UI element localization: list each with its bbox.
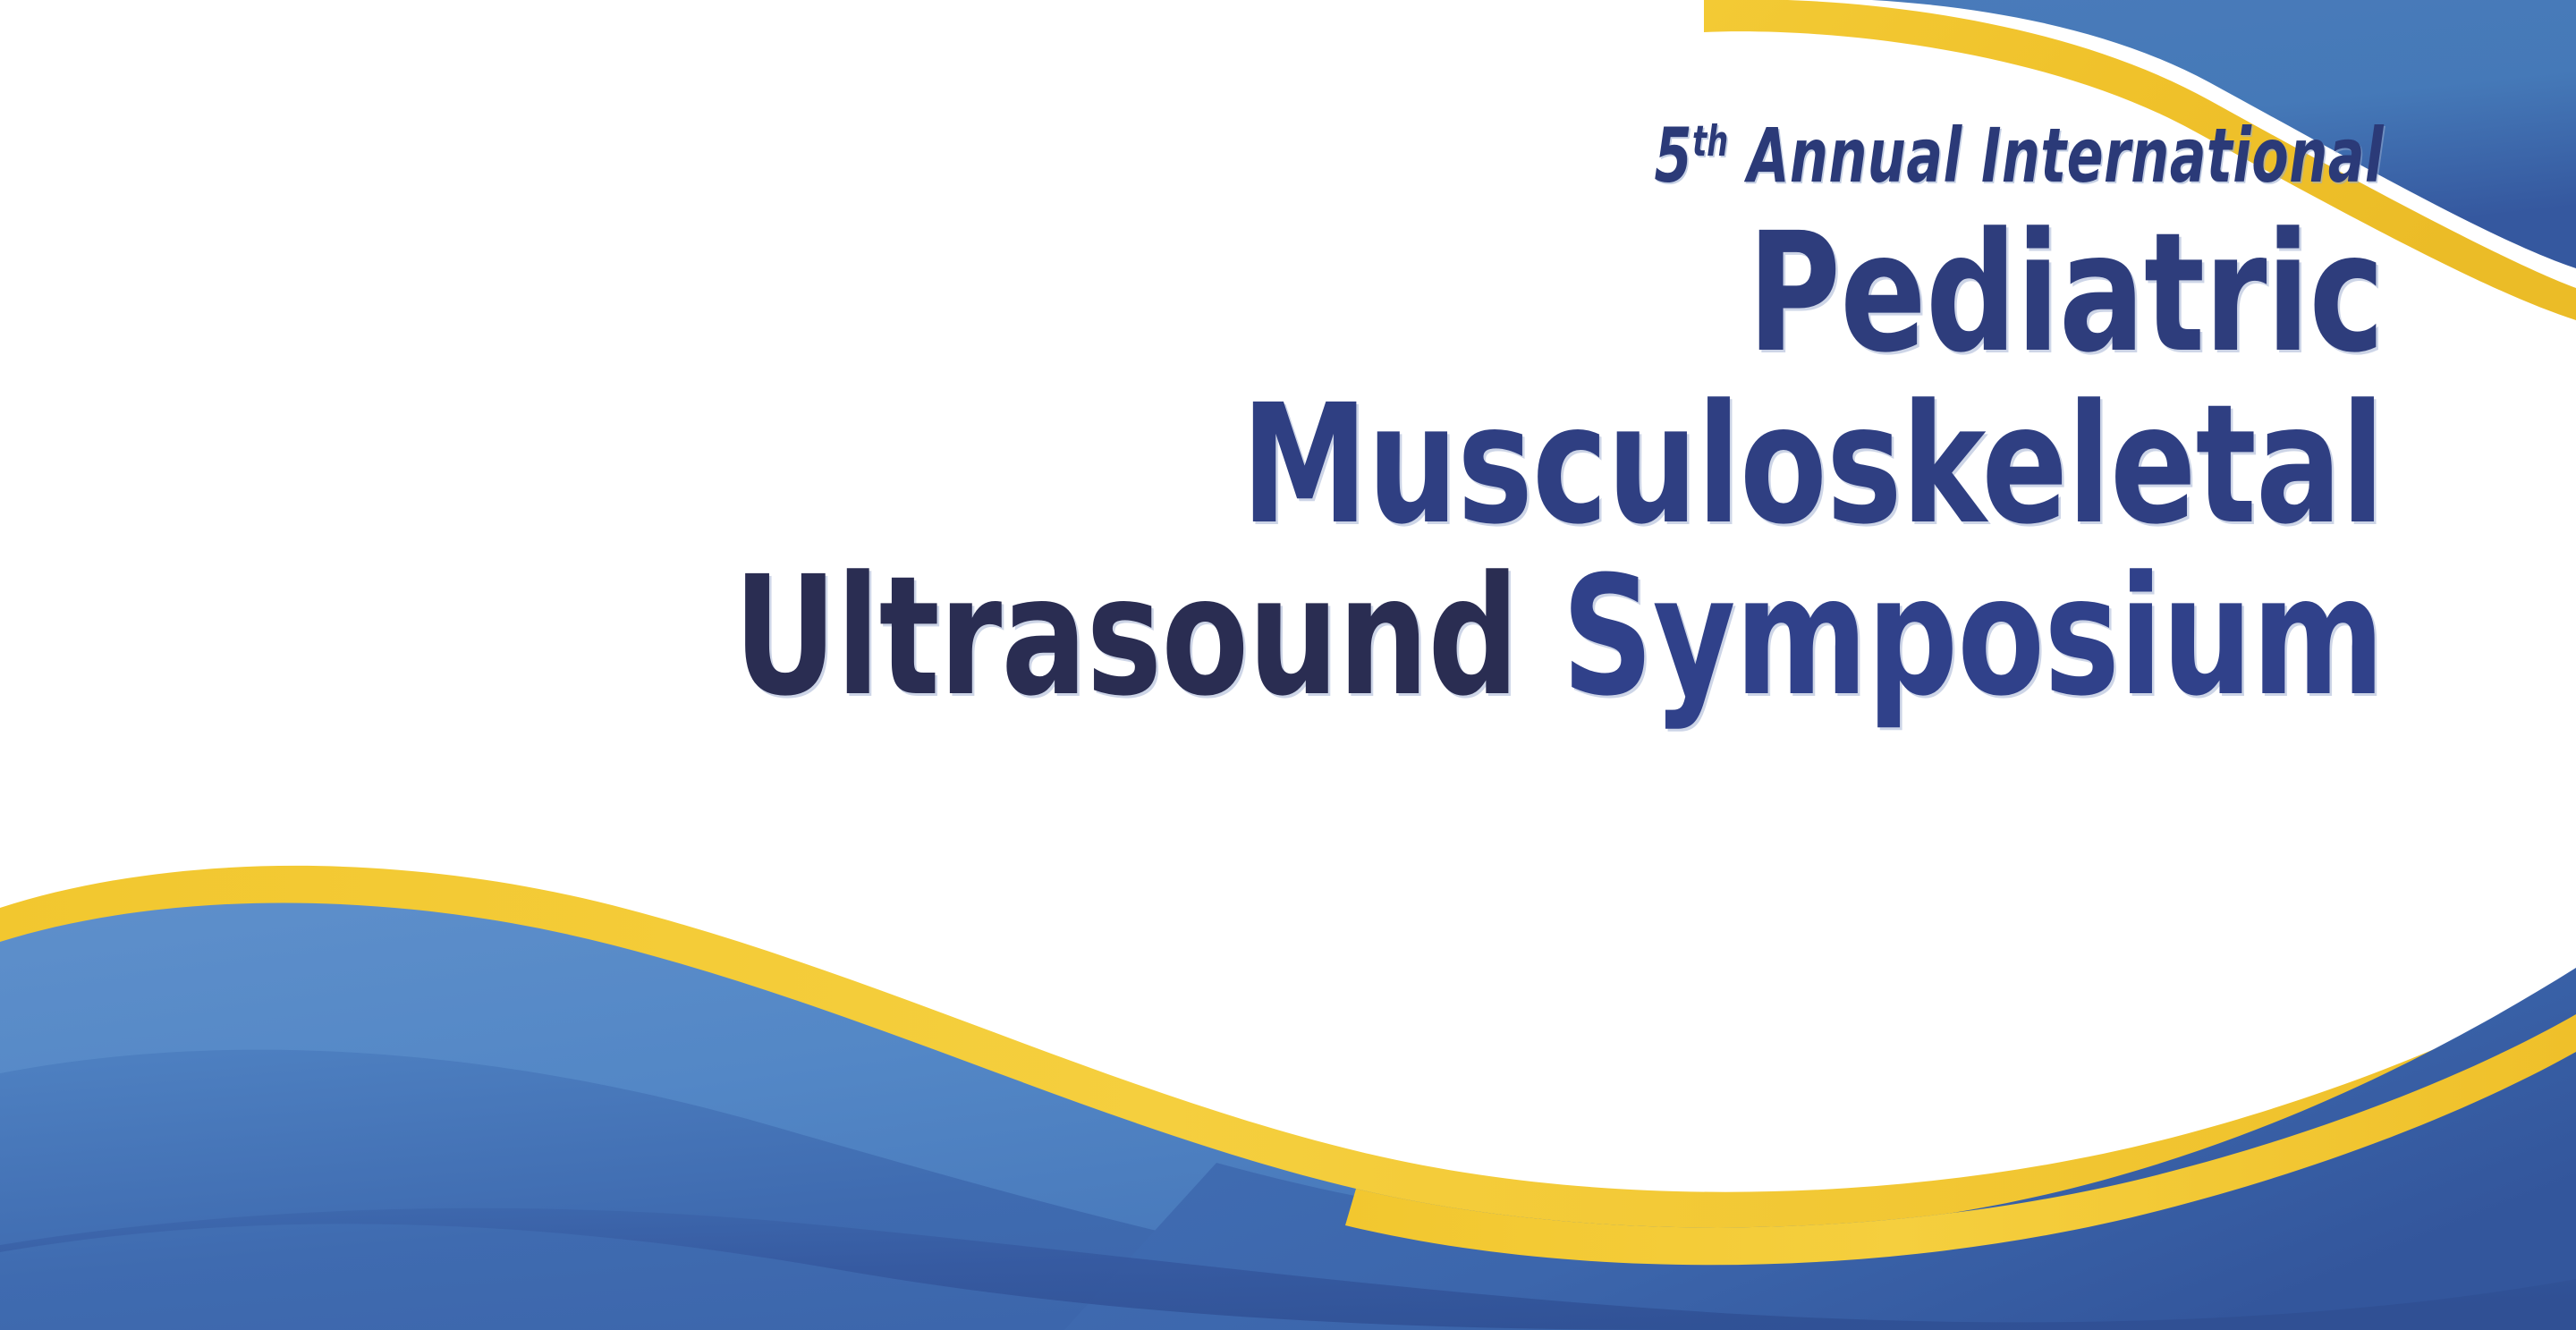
eyebrow-label: Annual International	[1728, 112, 2384, 199]
title-line-pediatric: Pediatric	[334, 211, 2384, 376]
title-block: 5th Annual International Pediatric Muscu…	[0, 0, 2384, 719]
title-line-musculoskeletal: Musculoskeletal	[334, 383, 2384, 547]
bottom-wave-deep	[0, 1208, 2576, 1330]
title-word-symposium: Symposium	[1562, 541, 2384, 733]
eyebrow-text: 5th Annual International	[477, 118, 2384, 193]
bottom-wave-mid	[0, 1050, 2576, 1330]
title-word-ultrasound: Ultrasound	[733, 541, 1562, 733]
bottom-yellow-ribbon-right	[1345, 1014, 2576, 1265]
bottom-yellow-ribbon	[0, 866, 2576, 1228]
bottom-wave-right-dark	[1064, 968, 2576, 1330]
eyebrow-ordinal-number: 5	[1655, 112, 1692, 199]
symposium-banner: 5th Annual International Pediatric Muscu…	[0, 0, 2576, 1330]
title-line-ultrasound-symposium: Ultrasound Symposium	[334, 555, 2384, 719]
bottom-wave-light	[0, 885, 2576, 1330]
bottom-wave-group	[0, 866, 2576, 1330]
eyebrow-ordinal-suffix: th	[1692, 117, 1728, 166]
